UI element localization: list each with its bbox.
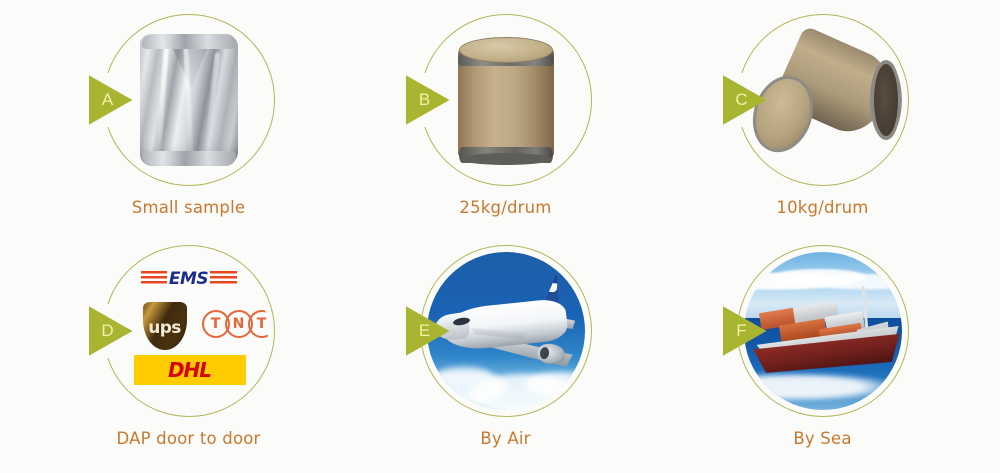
marker-letter-a: A [96, 75, 120, 125]
tnt-letter-2: N [233, 316, 245, 332]
photo-a [110, 21, 268, 179]
marker-letter-c: C [730, 75, 754, 125]
tnt-letter-3: T [257, 316, 267, 332]
marker-arrow-a[interactable]: A [89, 75, 133, 125]
caption-e: By Air [339, 429, 672, 448]
caption-c: 10kg/drum [656, 198, 989, 217]
tnt-letter-1: T [211, 316, 221, 332]
ups-logo-text: ups [148, 318, 181, 338]
disc-d: EMS ups T N T DHL D [103, 245, 275, 417]
open-fiber-drum-icon [748, 41, 898, 159]
cargo-airplane-photo [427, 252, 585, 410]
marker-arrow-e[interactable]: E [406, 306, 450, 356]
dhl-logo-icon: DHL [134, 355, 246, 385]
caption-d: DAP door to door [22, 429, 355, 448]
disc-c: C [737, 14, 909, 186]
item-card-b[interactable]: B 25kg/drum [339, 0, 672, 236]
courier-logos-icon: EMS ups T N T DHL [110, 252, 268, 410]
photo-b [427, 21, 585, 179]
disc-a: A [103, 14, 275, 186]
disc-e: E [420, 245, 592, 417]
marker-arrow-b[interactable]: B [406, 75, 450, 125]
container-ship-icon [744, 252, 902, 410]
tnt-logo-icon: T N T [202, 310, 268, 338]
marker-arrow-f[interactable]: F [723, 306, 767, 356]
fiber-drum-icon [458, 37, 554, 163]
marker-letter-d: D [96, 306, 120, 356]
caption-b: 25kg/drum [339, 198, 672, 217]
item-card-e[interactable]: E By Air [339, 237, 672, 473]
item-card-a[interactable]: A Small sample [22, 0, 355, 236]
ups-logo-icon: ups [143, 302, 187, 350]
marker-arrow-c[interactable]: C [723, 75, 767, 125]
marker-letter-b: B [413, 75, 437, 125]
airplane-icon [427, 252, 585, 410]
disc-b: B [420, 14, 592, 186]
caption-f: By Sea [656, 429, 989, 448]
dhl-logo-text: DHL [168, 358, 211, 382]
foil-pouch-icon [140, 34, 238, 166]
marker-letter-e: E [413, 306, 437, 356]
packaging-shipping-infographic: A Small sample B 25kg/drum [0, 0, 1000, 473]
disc-f: F [737, 245, 909, 417]
container-ship-photo [744, 252, 902, 410]
ems-logo-text: EMS [167, 269, 210, 289]
ems-logo-icon: EMS [141, 268, 237, 290]
caption-a: Small sample [22, 198, 355, 217]
marker-arrow-d[interactable]: D [89, 306, 133, 356]
item-card-d[interactable]: EMS ups T N T DHL D [22, 237, 355, 473]
item-card-c[interactable]: C 10kg/drum [656, 0, 989, 236]
photo-d: EMS ups T N T DHL [110, 252, 268, 410]
photo-c [744, 21, 902, 179]
marker-letter-f: F [730, 306, 754, 356]
item-card-f[interactable]: F By Sea [656, 237, 989, 473]
